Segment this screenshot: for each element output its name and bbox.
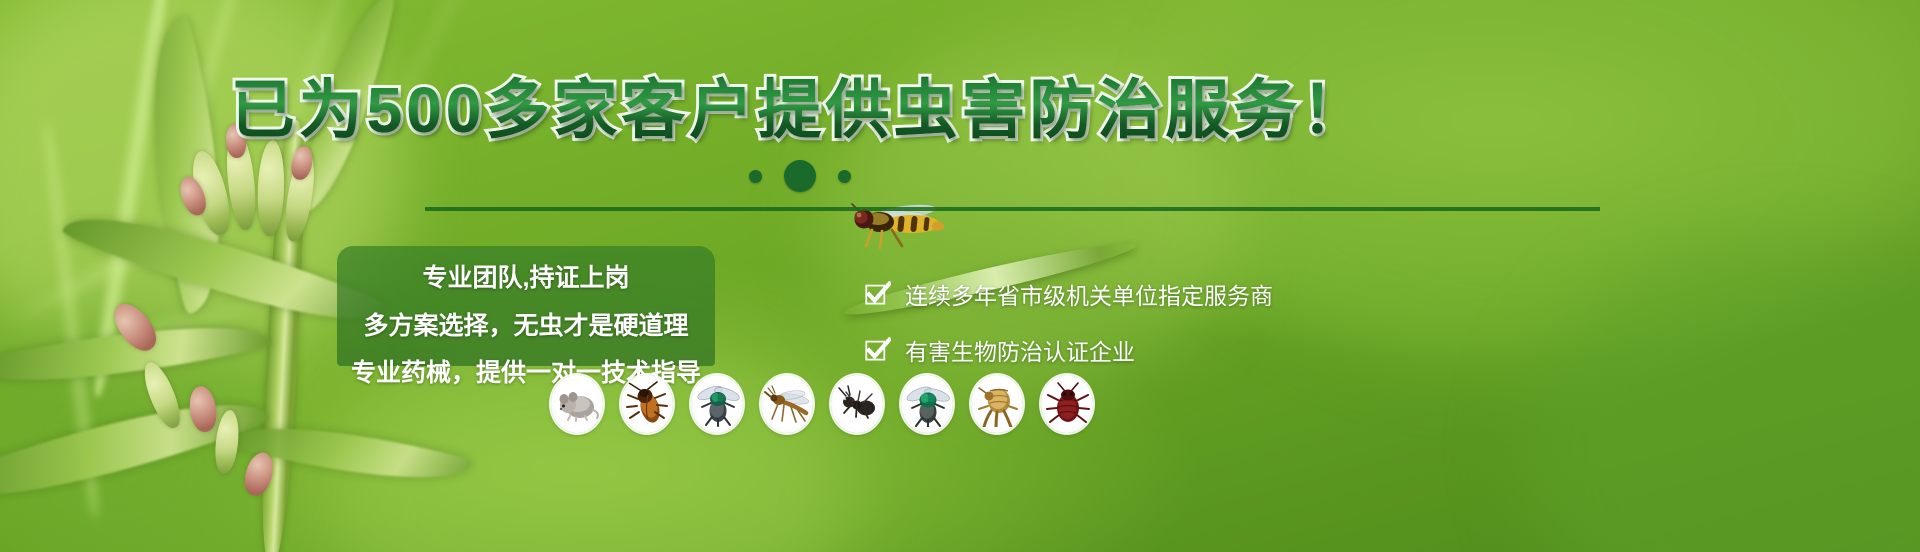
cockroach-icon [624,381,670,427]
checkbox-checked-icon [865,337,891,363]
pest-icon-flea[interactable] [971,375,1023,433]
pest-icon-cockroach[interactable] [621,375,673,433]
list-item: 有害生物防治认证企业 [865,333,1273,367]
blowfly-icon [904,381,950,427]
mosquito-icon [764,381,810,427]
list-item-label: 有害生物防治认证企业 [905,333,1135,367]
promo-line-1: 专业团队,持证上岗 [337,258,715,294]
list-item: 连续多年省市级机关单位指定服务商 [865,277,1273,311]
bedbug-icon [1044,381,1090,427]
checkbox-checked-icon [865,281,891,307]
pest-icon-blowfly[interactable] [901,375,953,433]
pest-control-banner: 已为500多家客户提供虫害防治服务！ 已为500多家客户提供虫害防治服务！ 专业… [0,0,1920,552]
list-item-label: 连续多年省市级机关单位指定服务商 [905,277,1273,311]
pest-icon-bedbug[interactable] [1041,375,1093,433]
mouse-icon [554,381,600,427]
ant-icon [834,381,880,427]
pest-icon-mouse[interactable] [551,375,603,433]
fly-icon [694,381,740,427]
small-dot-icon [838,170,851,183]
flea-icon [974,381,1020,427]
pest-icon-row [551,375,1093,433]
promo-line-2: 多方案选择，无虫才是硬道理 [337,306,715,342]
large-dot-icon [784,160,816,192]
page-title: 已为500多家客户提供虫害防治服务！ [0,78,1600,142]
pest-icon-fly[interactable] [691,375,743,433]
small-dot-icon [749,170,762,183]
decorative-dots [0,160,1600,192]
pest-icon-mosquito[interactable] [761,375,813,433]
credentials-list: 连续多年省市级机关单位指定服务商 有害生物防治认证企业 [865,277,1273,389]
promo-panel: 专业团队,持证上岗 多方案选择，无虫才是硬道理 专业药械，提供一对一技术指导 [337,246,715,366]
pest-icon-ant[interactable] [831,375,883,433]
divider-line [425,207,1600,211]
